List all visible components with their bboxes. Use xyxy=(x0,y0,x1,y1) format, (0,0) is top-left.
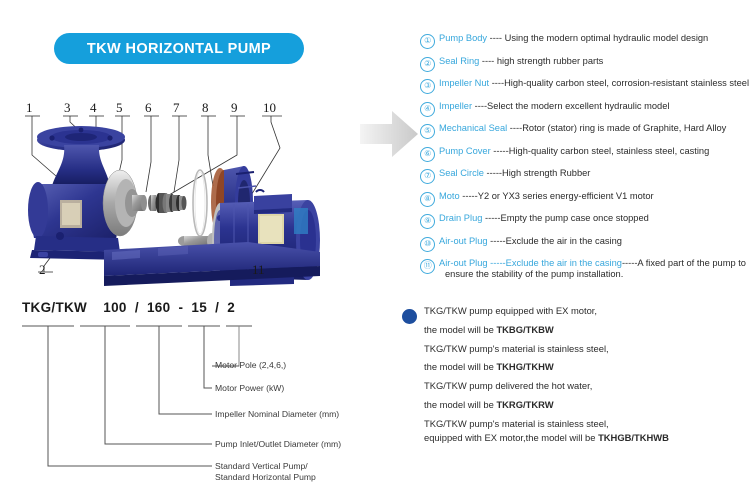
legend-number-icon: ⑪ xyxy=(420,259,435,274)
legend-item-2: ② Seal Ring ---- high strength rubber pa… xyxy=(420,56,752,72)
legend-number-icon: ② xyxy=(420,57,435,72)
legend-item-10: ⑩ Air-out Plug -----Exclude the air in t… xyxy=(420,236,752,252)
callout-number-6: 6 xyxy=(145,100,152,116)
legend-part-name: Moto xyxy=(439,191,460,201)
variant-note-line-8: equipped with EX motor,the model will be… xyxy=(424,432,750,444)
bullet-dot-icon xyxy=(402,309,417,324)
callout-number-3: 3 xyxy=(64,100,71,116)
legend-separator: ---- xyxy=(507,123,522,133)
legend-separator: ---- xyxy=(487,33,505,43)
variant-text: the model will be xyxy=(424,324,496,335)
variant-text: TKG/TKW pump's material is stainless ste… xyxy=(424,418,609,429)
legend-item-7: ⑦ Seal Circle -----High strength Rubber xyxy=(420,168,752,184)
variant-model-code: TKRG/TKRW xyxy=(496,399,553,410)
legend-part-name: Air-out Plug xyxy=(439,258,488,268)
legend-description: Rotor (stator) ring is made of Graphite,… xyxy=(522,123,726,133)
legend-description-tail: -----A fixed part of the pump to xyxy=(622,258,746,268)
legend-item-8: ⑧ Moto -----Y2 or YX3 series energy-effi… xyxy=(420,191,752,207)
legend-item-3: ③ Impeller Nut ----High-quality carbon s… xyxy=(420,78,752,94)
callout-number-4: 4 xyxy=(90,100,97,116)
callout-number-5: 5 xyxy=(116,100,123,116)
callout-number-8: 8 xyxy=(202,100,209,116)
legend-number-icon: ⑤ xyxy=(420,124,435,139)
part-impeller xyxy=(103,170,147,236)
callout-number-2: 2 xyxy=(39,262,46,278)
legend-number-icon: ⑥ xyxy=(420,147,435,162)
variant-text: TKG/TKW pump delivered the hot water, xyxy=(424,380,592,391)
nomenclature-leader-lines xyxy=(12,296,402,496)
callout-number-1: 1 xyxy=(26,100,33,116)
legend-number-icon: ③ xyxy=(420,79,435,94)
legend-separator: ----- xyxy=(488,258,506,268)
callout-number-11: 11 xyxy=(252,262,265,278)
legend-part-name: Air-out Plug xyxy=(439,236,488,246)
legend-part-name: Mechanical Seal xyxy=(439,123,507,133)
legend-description: Y2 or YX3 series energy-efficient V1 mot… xyxy=(478,191,654,201)
legend-part-name: Seal Circle xyxy=(439,168,484,178)
page-title-banner: TKW HORIZONTAL PUMP xyxy=(54,33,304,64)
legend-description: Exclude the air in the casing xyxy=(506,258,622,268)
variant-text: TKG/TKW pump equipped with EX motor, xyxy=(424,305,597,316)
legend-description: High strength Rubber xyxy=(502,168,590,178)
legend-separator: ----- xyxy=(484,168,502,178)
variant-text: the model will be xyxy=(424,399,496,410)
variant-text: TKG/TKW pump's material is stainless ste… xyxy=(424,343,609,354)
model-variant-notes: TKG/TKW pump equipped with EX motor, the… xyxy=(400,303,750,444)
legend-item-5: ⑤ Mechanical Seal ----Rotor (stator) rin… xyxy=(420,123,752,139)
exploded-pump-diagram: 1 2 3 4 5 6 7 8 9 10 11 xyxy=(8,100,358,290)
legend-separator: ----- xyxy=(491,146,509,156)
legend-description: Exclude the air in the casing xyxy=(506,236,622,246)
legend-item-6: ⑥ Pump Cover -----High-quality carbon st… xyxy=(420,146,752,162)
legend-description: Using the modern optimal hydraulic model… xyxy=(505,33,709,43)
legend-description: High-quality carbon steel, corrosion-res… xyxy=(504,78,749,88)
legend-item-1: ① Pump Body ---- Using the modern optima… xyxy=(420,33,752,49)
callout-number-9: 9 xyxy=(231,100,238,116)
callout-number-10: 10 xyxy=(263,100,276,116)
legend-item-4: ④ Impeller ----Select the modern excelle… xyxy=(420,101,752,117)
nomenclature-label-port-diameter: Pump Inlet/Outlet Diameter (mm) xyxy=(215,439,341,451)
legend-number-icon: ④ xyxy=(420,102,435,117)
flow-arrow-icon xyxy=(358,103,420,165)
legend-number-icon: ⑨ xyxy=(420,214,435,229)
nomenclature-label-standard-pump-line1: Standard Vertical Pump/ xyxy=(215,461,308,473)
variant-model-code: TKHG/TKHW xyxy=(496,361,553,372)
part-mechanical-seal xyxy=(148,193,187,213)
variant-note-line-7: TKG/TKW pump's material is stainless ste… xyxy=(424,418,750,430)
page-title: TKW HORIZONTAL PUMP xyxy=(87,41,271,57)
legend-item-11: ⑪ Air-out Plug -----Exclude the air in t… xyxy=(420,258,752,280)
legend-separator: ----- xyxy=(460,191,478,201)
legend-part-name: Pump Cover xyxy=(439,146,491,156)
legend-separator: ---- xyxy=(489,78,504,88)
part-seal-circle xyxy=(193,170,207,236)
legend-description: High-quality carbon steel, stainless ste… xyxy=(509,146,710,156)
legend-separator: ---- xyxy=(479,56,497,66)
legend-number-icon: ⑩ xyxy=(420,237,435,252)
legend-description: high strength rubber parts xyxy=(497,56,603,66)
variant-note-line-4: the model will be TKHG/TKHW xyxy=(424,361,750,373)
variant-text: equipped with EX motor,the model will be xyxy=(424,432,598,443)
nomenclature-label-standard-pump-line2: Standard Horizontal Pump xyxy=(215,472,316,484)
variant-model-code: TKBG/TKBW xyxy=(496,324,553,335)
legend-part-name: Impeller Nut xyxy=(439,78,489,88)
nomenclature-label-motor-pole: Motor Pole (2,4,6,) xyxy=(215,360,286,372)
legend-number-icon: ⑦ xyxy=(420,169,435,184)
legend-part-name: Drain Plug xyxy=(439,213,482,223)
legend-part-name: Impeller xyxy=(439,101,472,111)
model-code-text: TKG/TKW 100 / 160 - 15 / 2 xyxy=(22,300,235,315)
variant-note-line-1: TKG/TKW pump equipped with EX motor, xyxy=(424,305,750,317)
variant-note-line-2: the model will be TKBG/TKBW xyxy=(424,324,750,336)
model-nomenclature-diagram: TKG/TKW 100 / 160 - 15 / 2 Motor Pole (2… xyxy=(12,296,402,496)
variant-note-line-5: TKG/TKW pump delivered the hot water, xyxy=(424,380,750,392)
variant-note-line-3: TKG/TKW pump's material is stainless ste… xyxy=(424,343,750,355)
legend-number-icon: ① xyxy=(420,34,435,49)
variant-note-line-6: the model will be TKRG/TKRW xyxy=(424,399,750,411)
legend-separator: ----- xyxy=(482,213,500,223)
variant-model-code: TKHGB/TKHWB xyxy=(598,432,669,443)
legend-description: Select the modern excellent hydraulic mo… xyxy=(487,101,669,111)
variant-text: the model will be xyxy=(424,361,496,372)
legend-separator: ---- xyxy=(472,101,487,111)
legend-part-name: Pump Body xyxy=(439,33,487,43)
legend-separator: ----- xyxy=(488,236,506,246)
nomenclature-label-motor-power: Motor Power (kW) xyxy=(215,383,284,395)
legend-part-name: Seal Ring xyxy=(439,56,479,66)
legend-description: Empty the pump case once stopped xyxy=(501,213,649,223)
nomenclature-label-impeller-diameter: Impeller Nominal Diameter (mm) xyxy=(215,409,339,421)
legend-item-9: ⑨ Drain Plug -----Empty the pump case on… xyxy=(420,213,752,229)
legend-number-icon: ⑧ xyxy=(420,192,435,207)
legend-description-line2: ensure the stability of the pump install… xyxy=(445,269,746,280)
callout-number-7: 7 xyxy=(173,100,180,116)
parts-legend-list: ① Pump Body ---- Using the modern optima… xyxy=(420,33,752,287)
